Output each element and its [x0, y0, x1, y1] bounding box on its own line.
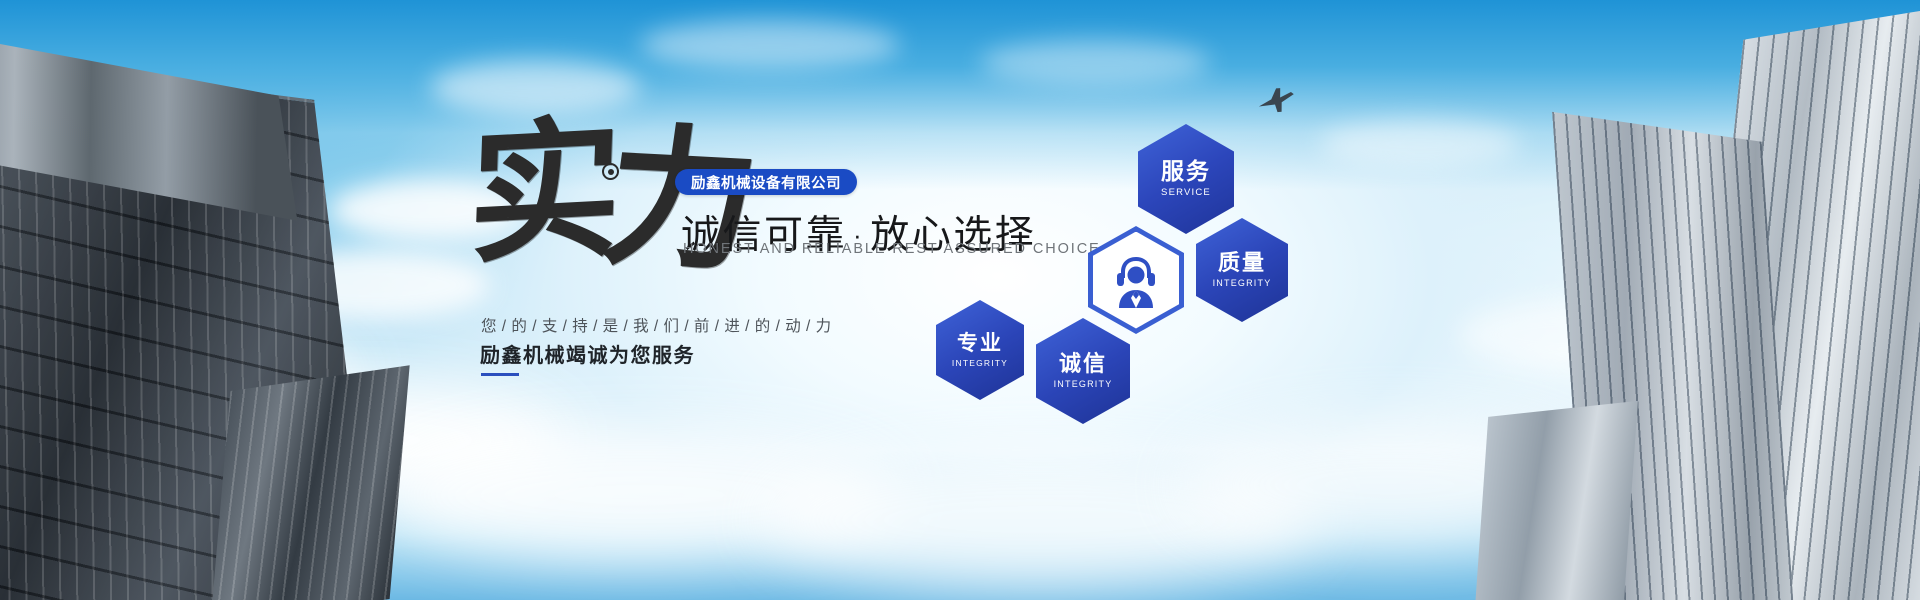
service-slogan-line: 励鑫机械竭诚为您服务 — [480, 339, 695, 368]
calligraphy-char-1: 实 — [466, 99, 611, 285]
circle-dot-icon — [602, 163, 619, 180]
hex-label-en: INTEGRITY — [952, 359, 1008, 368]
accent-rule — [481, 373, 519, 376]
company-name-badge: 励鑫机械设备有限公司 — [675, 169, 857, 195]
hex-label-cn: 服务 — [1161, 160, 1211, 183]
headset-operator-icon — [1109, 251, 1163, 309]
promo-banner: 实力 励鑫机械设备有限公司 诚信可靠·放心选择 HONEST AND RELIA… — [0, 0, 1920, 600]
slogan-english: HONEST AND RELIABLE REST ASSURED CHOICE — [683, 241, 1101, 257]
hex-label-cn: 质量 — [1218, 252, 1266, 274]
building-left — [0, 60, 440, 600]
calligraphy-headline: 实力 — [464, 114, 702, 326]
building-right — [1400, 40, 1920, 600]
hex-label-en: INTEGRITY — [1054, 380, 1113, 389]
hex-label-en: INTEGRITY — [1213, 279, 1272, 288]
hex-label-en: SERVICE — [1161, 188, 1211, 198]
cloud — [640, 20, 900, 70]
cloud — [980, 40, 1210, 85]
hex-label-cn: 专业 — [957, 333, 1003, 354]
hex-label-cn: 诚信 — [1059, 353, 1107, 375]
airplane-icon — [1256, 88, 1296, 114]
support-slogan-line: 您 / 的 / 支 / 持 / 是 / 我 / 们 / 前 / 进 / 的 / … — [481, 314, 832, 336]
